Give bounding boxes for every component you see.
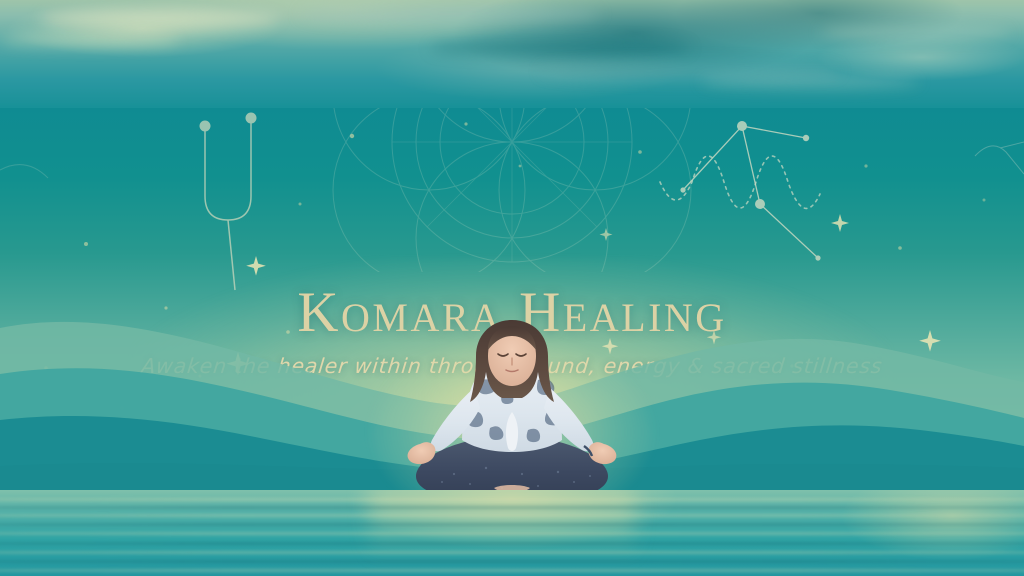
meditating-figure [362, 316, 662, 490]
water-reflection-band [0, 490, 1024, 576]
cloud-sky-photo-band [0, 0, 1024, 110]
flower-of-life-mandala [302, 108, 722, 272]
woman-lotus-pose [362, 316, 662, 490]
komara-healing-banner: Komara Healing Awaken the healer within … [0, 0, 1024, 576]
inner-banner: Komara Healing Awaken the healer within … [0, 108, 1024, 490]
